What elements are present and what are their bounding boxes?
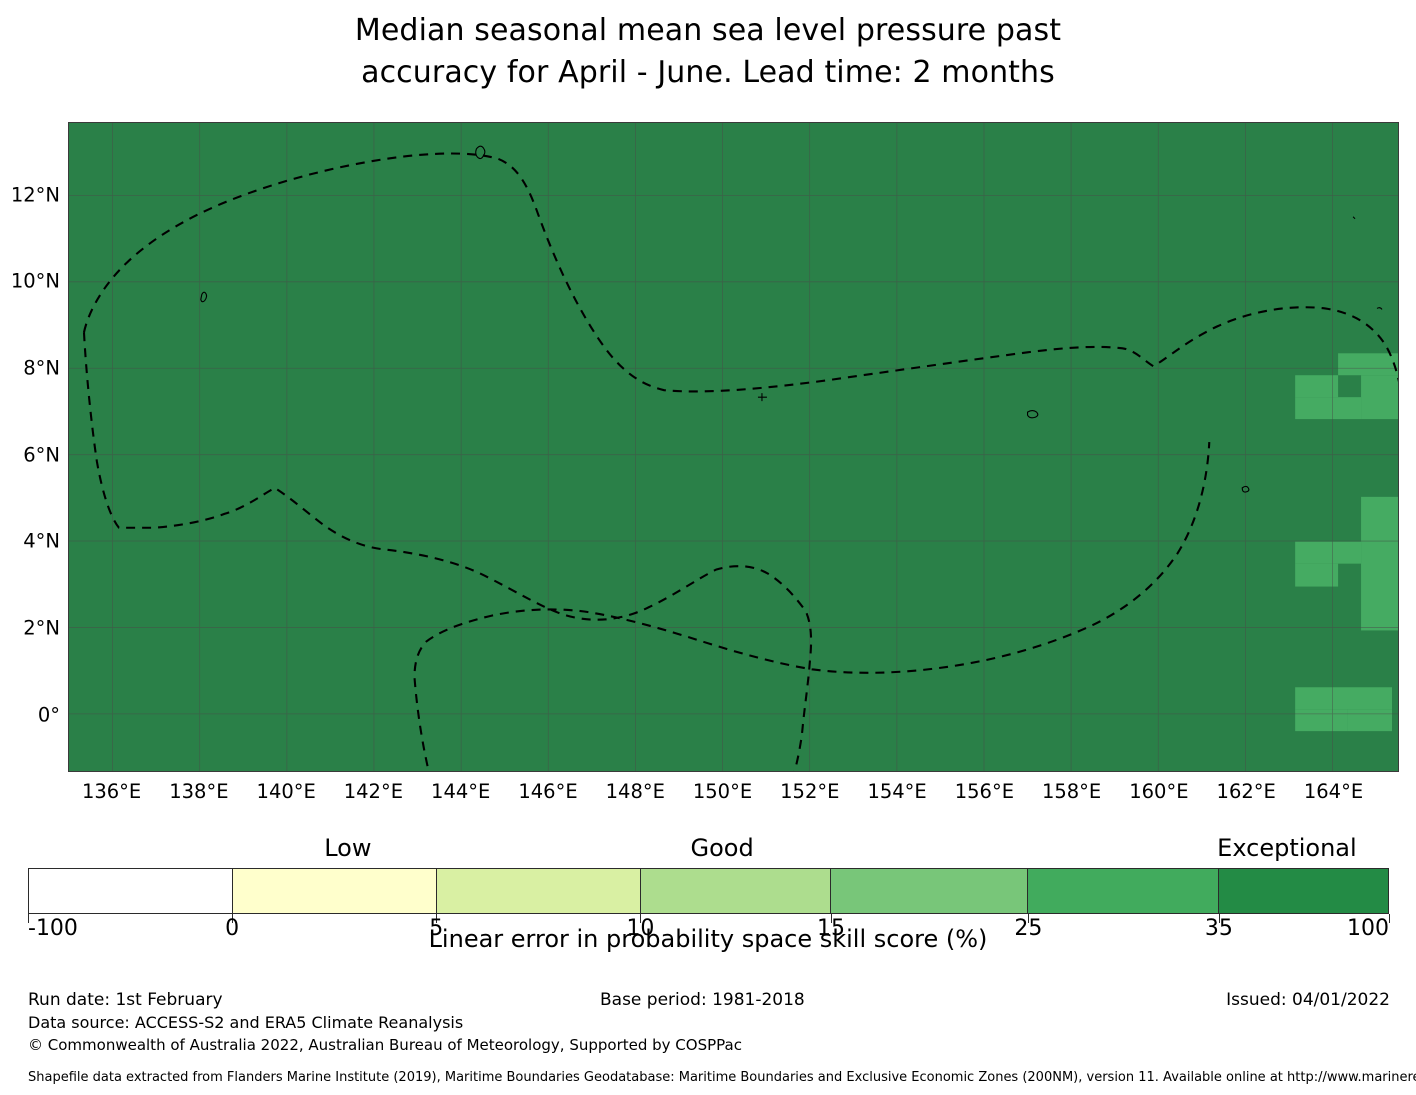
colorbar-segment-35-100: [1218, 869, 1388, 913]
x-tick-label: 158°E: [1042, 780, 1101, 803]
x-tick-label: 152°E: [780, 780, 839, 803]
colorbar-segment-5-10: [436, 869, 640, 913]
y-tick-label: 12°N: [0, 183, 60, 206]
x-tick-label: 148°E: [606, 780, 665, 803]
figure: Median seasonal mean sea level pressure …: [0, 0, 1416, 1095]
map-svg: [69, 123, 1398, 771]
x-tick-label: 160°E: [1129, 780, 1188, 803]
x-tick-label: 164°E: [1304, 780, 1363, 803]
x-tick-label: 150°E: [693, 780, 752, 803]
x-tick-label: 140°E: [257, 780, 316, 803]
y-tick-label: 2°N: [0, 617, 60, 640]
colorbar-tick-mark: [1389, 914, 1390, 923]
colorbar: Low Good Exceptional -100 0 5 10 15 25 3…: [28, 868, 1389, 914]
x-tick-label: 162°E: [1217, 780, 1276, 803]
map-plot-area: [68, 122, 1399, 772]
page-title: Median seasonal mean sea level pressure …: [0, 10, 1416, 94]
footer-run-date: Run date: 1st February: [28, 990, 223, 1010]
colorbar-segment-15-25: [830, 869, 1027, 913]
map-canvas: [69, 123, 1398, 771]
x-tick-label: 142°E: [344, 780, 403, 803]
footer-data-source: Data source: ACCESS-S2 and ERA5 Climate …: [28, 1013, 463, 1032]
y-tick-label: 6°N: [0, 443, 60, 466]
colorbar-axis-label: Linear error in probability space skill …: [0, 925, 1416, 953]
y-tick-label: 10°N: [0, 270, 60, 293]
colorbar-gradient: [28, 868, 1389, 914]
x-tick-label: 138°E: [169, 780, 228, 803]
x-tick-label: 154°E: [867, 780, 926, 803]
x-tick-label: 156°E: [955, 780, 1014, 803]
colorbar-segment-neg100-0: [29, 869, 232, 913]
x-tick-label: 146°E: [518, 780, 577, 803]
footer-shapefile-attribution: Shapefile data extracted from Flanders M…: [28, 1070, 1416, 1085]
y-tick-label: 0°: [0, 703, 60, 726]
x-tick-label: 144°E: [431, 780, 490, 803]
colorbar-quality-good: Good: [691, 834, 754, 862]
footer-issued-date: Issued: 04/01/2022: [1226, 990, 1390, 1010]
title-line-2: accuracy for April - June. Lead time: 2 …: [0, 52, 1416, 94]
x-tick-label: 136°E: [82, 780, 141, 803]
colorbar-quality-exceptional: Exceptional: [1217, 834, 1357, 862]
footer-copyright: © Commonwealth of Australia 2022, Austra…: [28, 1036, 742, 1054]
y-tick-label: 8°N: [0, 357, 60, 380]
colorbar-quality-low: Low: [324, 834, 371, 862]
colorbar-segment-10-15: [640, 869, 830, 913]
footer-base-period: Base period: 1981-2018: [600, 990, 805, 1010]
colorbar-segment-0-5: [232, 869, 436, 913]
y-tick-label: 4°N: [0, 530, 60, 553]
title-line-1: Median seasonal mean sea level pressure …: [0, 10, 1416, 52]
colorbar-segment-25-35: [1027, 869, 1217, 913]
skill-cell-base: [69, 123, 1398, 771]
